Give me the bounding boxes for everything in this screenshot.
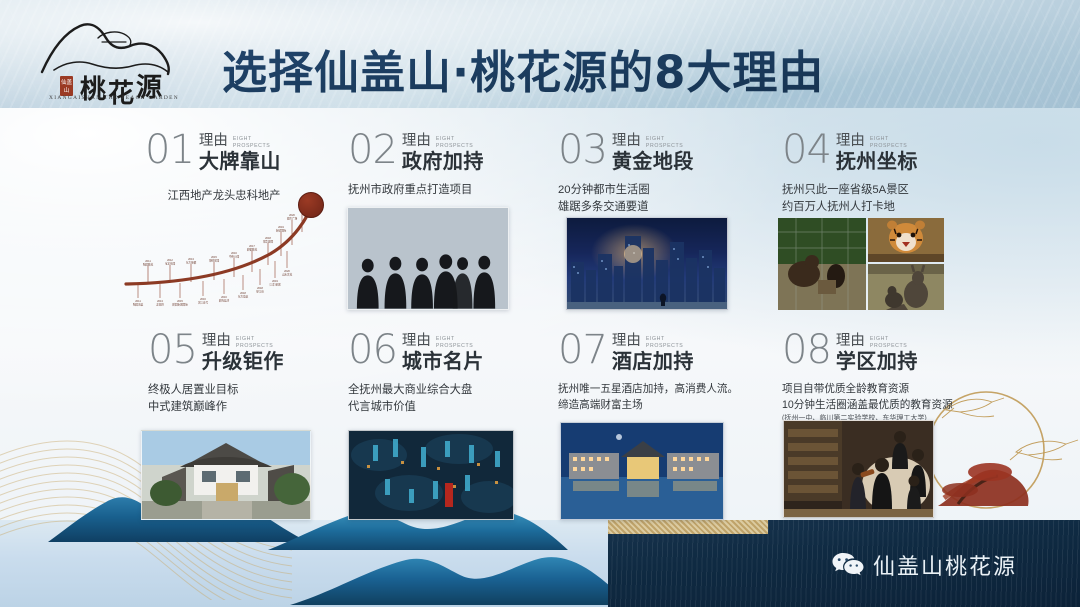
card-headline: 升级钜作 <box>202 351 284 373</box>
svg-text:望江府: 望江府 <box>256 290 264 294</box>
eight-prospects-label: EIGHTPROSPECTS <box>646 334 683 350</box>
svg-text:仙盖: 仙盖 <box>61 78 73 86</box>
brand-logo-icon: 桃 花 源 仙盖 山 <box>36 14 186 106</box>
svg-text:碧馨雅苑: 碧馨雅苑 <box>247 248 258 252</box>
svg-text:龙湖湾: 龙湖湾 <box>156 303 164 307</box>
photo-tiger <box>868 218 944 262</box>
card-desc-line: 抚州市政府重点打造项目 <box>348 182 484 198</box>
hotel-shapes <box>561 423 724 520</box>
card-headline: 抚州坐标 <box>836 151 918 173</box>
reason-label: 理由 <box>836 134 865 149</box>
card-number: 08 <box>782 333 831 368</box>
reason-label: 理由 <box>402 134 431 149</box>
svg-text:2013: 2013 <box>188 257 194 261</box>
tiger-shapes <box>868 218 944 262</box>
photo-officials <box>347 207 509 310</box>
card-desc-line: 全抚州最大商业综合大盘 <box>348 382 484 398</box>
card-desc-line: 雄踞多条交通要道 <box>558 199 694 215</box>
card-headline: 黄金地段 <box>612 151 694 173</box>
svg-text:新城国际: 新城国际 <box>276 229 287 233</box>
card-desc-line: 代言城市价值 <box>348 399 484 415</box>
card-desc-line: 缔造高端财富主场 <box>558 398 738 413</box>
aerial-town-shapes <box>349 431 514 520</box>
reason-card-02[interactable]: 02 理由 EIGHTPROSPECTS 政府加持 抚州市政府重点打造项目 <box>348 133 484 198</box>
reason-card-03[interactable]: 03 理由 EIGHTPROSPECTS 黄金地段 20分钟都市生活圈 雄踞多条… <box>558 133 694 215</box>
eight-prospects-label: EIGHTPROSPECTS <box>870 334 907 350</box>
photo-family-portrait <box>783 420 934 518</box>
svg-text:2016: 2016 <box>221 295 227 299</box>
svg-text:城市广场: 城市广场 <box>287 217 298 221</box>
eight-prospects-label: EIGHTPROSPECTS <box>870 134 907 150</box>
svg-text:2017: 2017 <box>249 244 255 248</box>
brand-seal-badge <box>298 192 324 218</box>
eight-prospects-label: EIGHTPROSPECTS <box>233 134 270 150</box>
svg-text:2016: 2016 <box>231 251 237 255</box>
svg-text:江洋·丽城: 江洋·丽城 <box>269 283 281 287</box>
svg-text:2018: 2018 <box>257 286 263 290</box>
photo-chinese-villa <box>141 430 311 520</box>
svg-text:2018: 2018 <box>240 291 246 295</box>
svg-text:2012: 2012 <box>167 258 173 262</box>
reason-label: 理由 <box>199 134 228 149</box>
reason-label: 理由 <box>402 334 431 349</box>
svg-text:2020: 2020 <box>284 269 290 273</box>
reason-card-05[interactable]: 05 理由 EIGHTPROSPECTS 升级钜作 终极人居置业目标 中式建筑巅… <box>148 333 284 415</box>
card-desc-line: 抚州唯一五星酒店加持，高消费人流。 <box>558 382 738 397</box>
card-number: 03 <box>558 133 607 168</box>
photo-bears <box>778 218 866 310</box>
svg-text:花: 花 <box>108 79 134 106</box>
reason-card-08[interactable]: 08 理由 EIGHTPROSPECTS 学区加持 项目自带优质全龄教育资源 1… <box>782 333 953 424</box>
villa-shapes <box>142 431 311 520</box>
svg-text:宝龙花园: 宝龙花园 <box>165 262 176 266</box>
svg-text:滨江壹号: 滨江壹号 <box>198 301 209 305</box>
reason-card-06[interactable]: 06 理由 EIGHTPROSPECTS 城市名片 全抚州最大商业综合大盘 代言… <box>348 333 484 415</box>
svg-text:中央公园: 中央公园 <box>229 255 240 259</box>
photo-city-skyline <box>566 217 728 310</box>
svg-text:锦华建国: 锦华建国 <box>263 240 274 244</box>
card-headline: 政府加持 <box>402 151 484 173</box>
family-portrait-shapes <box>784 421 934 518</box>
card-headline: 酒店加持 <box>612 351 694 373</box>
svg-text:东方豪庭: 东方豪庭 <box>238 295 249 299</box>
svg-text:碧海蓝湾: 碧海蓝湾 <box>219 299 230 303</box>
eight-prospects-label: EIGHTPROSPECTS <box>436 134 473 150</box>
eight-prospects-label: EIGHTPROSPECTS <box>236 334 273 350</box>
eight-prospects-label: EIGHTPROSPECTS <box>646 134 683 150</box>
photo-kangaroos <box>868 264 944 310</box>
wechat-icon <box>832 552 864 578</box>
page-title: 选择仙盖山·桃花源的8大理由 <box>222 36 824 101</box>
photo-aerial-town <box>348 430 514 520</box>
photo-hotel <box>560 422 724 520</box>
reason-card-04[interactable]: 04 理由 EIGHTPROSPECTS 抚州坐标 抚州只此一座省级5A景区 约… <box>782 133 918 215</box>
svg-text:2019: 2019 <box>278 225 284 229</box>
kangaroo-shapes <box>868 264 944 310</box>
skyline-shapes <box>567 218 728 310</box>
svg-text:2015: 2015 <box>177 299 183 303</box>
card-desc-line: 10分钟生活圈涵盖最优质的教育资源 <box>782 398 953 413</box>
svg-text:2013: 2013 <box>157 299 163 303</box>
card-number: 02 <box>348 133 397 168</box>
svg-text:陶园雅苑: 陶园雅苑 <box>143 263 154 267</box>
bear-shapes <box>778 218 866 310</box>
svg-text:锦绣家园: 锦绣家园 <box>209 259 220 263</box>
svg-text:2011: 2011 <box>145 259 151 263</box>
reason-label: 理由 <box>612 334 641 349</box>
svg-text:陶园海棠: 陶园海棠 <box>133 303 144 307</box>
reason-label: 理由 <box>202 334 231 349</box>
svg-text:2018: 2018 <box>265 236 271 240</box>
svg-text:2016: 2016 <box>200 297 206 301</box>
logo-subtitle: XIANGAISHAN THE PEACH GARDEN <box>40 95 188 101</box>
card-desc-line: 项目自带优质全龄教育资源 <box>782 382 953 397</box>
svg-text:2011: 2011 <box>135 299 141 303</box>
people-silhouettes <box>348 246 508 309</box>
card-desc-line: 约百万人抚州人打卡地 <box>782 199 918 215</box>
growth-timeline-chart: 江西地产龙头忠科地产 <box>118 188 330 308</box>
reason-card-01[interactable]: 01 理由 EIGHTPROSPECTS 大牌靠山 <box>145 133 281 173</box>
card-desc-line: 抚州只此一座省级5A景区 <box>782 182 918 198</box>
reason-card-07[interactable]: 07 理由 EIGHTPROSPECTS 酒店加持 抚州唯一五星酒店加持，高消费… <box>558 333 738 413</box>
card-number: 07 <box>558 333 607 368</box>
card-desc-line: 中式建筑巅峰作 <box>148 399 284 415</box>
card-number: 01 <box>145 133 194 168</box>
card-headline: 学区加持 <box>836 351 918 373</box>
reason-label: 理由 <box>836 334 865 349</box>
card-number: 05 <box>148 333 197 368</box>
card-number: 06 <box>348 333 397 368</box>
card-number: 04 <box>782 133 831 168</box>
svg-text:东方丽都: 东方丽都 <box>186 261 197 265</box>
slide-canvas: 桃 花 源 仙盖 山 XIANGAISHAN THE PEACH GARDEN … <box>0 0 1080 607</box>
svg-text:碧园新城国际: 碧园新城国际 <box>172 303 188 307</box>
card-headline: 大牌靠山 <box>199 151 281 173</box>
card-desc-line: 20分钟都市生活圈 <box>558 182 694 198</box>
svg-text:2015: 2015 <box>211 255 217 259</box>
wechat-account[interactable]: 仙盖山桃花源 <box>832 549 1017 581</box>
reason-label: 理由 <box>612 134 641 149</box>
card-desc-line: 终极人居置业目标 <box>148 382 284 398</box>
svg-text:2019: 2019 <box>272 279 278 283</box>
card-headline: 城市名片 <box>402 351 484 373</box>
eight-prospects-label: EIGHTPROSPECTS <box>436 334 473 350</box>
svg-text:2020: 2020 <box>289 213 295 217</box>
svg-text:山水文苑: 山水文苑 <box>282 273 293 277</box>
svg-text:山: 山 <box>64 86 70 94</box>
wechat-account-name: 仙盖山桃花源 <box>873 549 1017 581</box>
